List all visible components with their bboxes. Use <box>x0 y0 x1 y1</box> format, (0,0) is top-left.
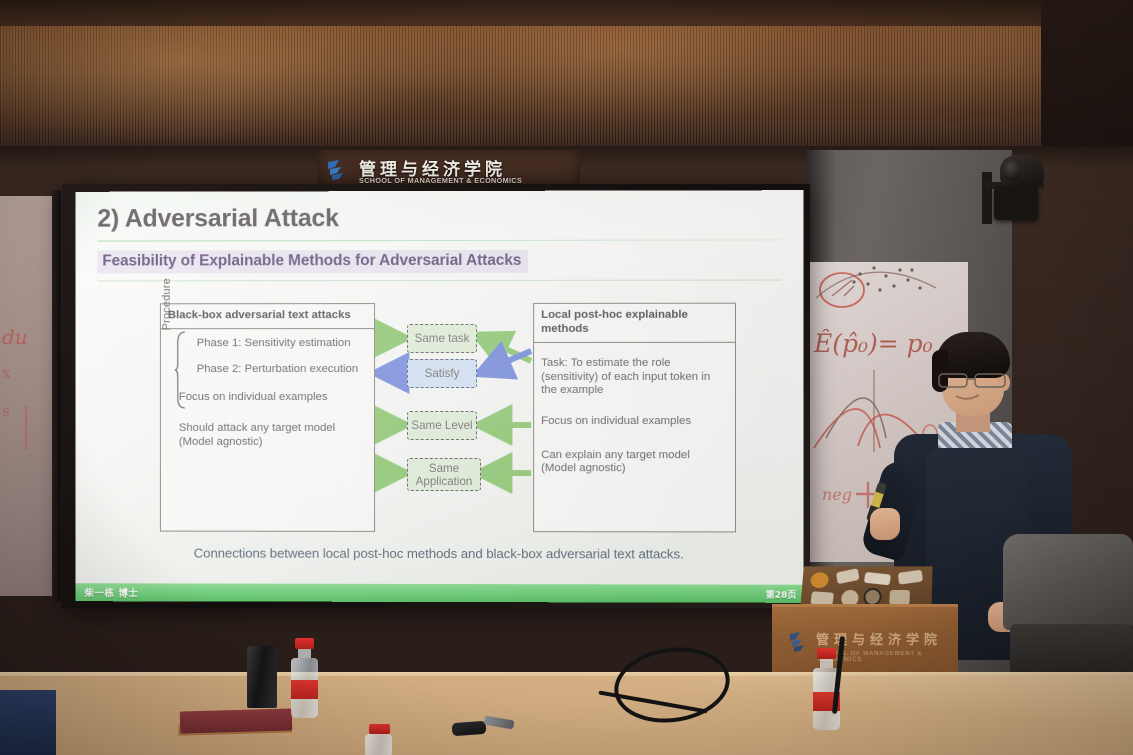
presenter-mouth <box>954 392 982 402</box>
right-panel: Local post-hoc explainable methods Task:… <box>533 303 736 533</box>
presenter-hand-holding-marker <box>870 508 900 540</box>
arrow-task-to-satisfy <box>480 351 531 373</box>
whiteboard-left <box>0 196 58 596</box>
black-thermos <box>247 646 277 708</box>
midbox-same-task[interactable]: Same task <box>407 324 477 353</box>
red-notebook <box>180 708 293 733</box>
comparison-diagram: Black-box adversarial text attacks Proce… <box>97 303 783 544</box>
left-item-phase2: Phase 2: Perturbation execution <box>197 363 368 377</box>
school-logo-icon <box>326 158 352 182</box>
sticker-label-1 <box>836 568 859 584</box>
bottle-neck <box>298 649 311 658</box>
bottle-body <box>291 658 318 718</box>
camera-lens-icon <box>1004 158 1020 180</box>
right-item-focus: Focus on individual examples <box>541 415 712 429</box>
camera-mount <box>982 172 992 224</box>
camera-base <box>994 186 1038 220</box>
ceiling-right-shadow <box>1041 0 1133 160</box>
bottle-cap <box>295 638 314 649</box>
conference-table <box>0 676 1133 755</box>
subtitle-divider <box>97 280 781 282</box>
office-chair-back <box>1003 534 1133 630</box>
water-bottle-left <box>291 638 318 718</box>
title-divider <box>97 239 781 242</box>
bottle-body <box>365 734 392 755</box>
glasses-icon <box>938 372 1010 389</box>
footer-page-number: 第28页 <box>766 587 797 600</box>
sticker-orange <box>810 572 829 588</box>
water-bottle-foreground <box>365 724 393 755</box>
left-item-focus: Focus on individual examples <box>179 391 354 405</box>
left-item-phase1: Phase 1: Sensitivity estimation <box>197 337 362 351</box>
sticker-label-2 <box>864 572 891 585</box>
sticker-label-3 <box>898 570 923 585</box>
projected-slide: 2) Adversarial Attack Feasibility of Exp… <box>76 190 804 603</box>
right-panel-heading: Local post-hoc explainable methods <box>534 304 735 343</box>
footer-presenter-name: 柴一栋 博士 <box>84 585 138 599</box>
right-item-explain: Can explain any target model (Model agno… <box>541 449 720 477</box>
bottle-label <box>291 680 318 699</box>
bottle-neck <box>820 659 833 668</box>
midbox-satisfy[interactable]: Satisfy <box>407 359 477 388</box>
projection-screen-bezel: 2) Adversarial Attack Feasibility of Exp… <box>62 184 810 608</box>
ceiling-trim <box>0 0 1133 26</box>
right-item-task: Task: To estimate the role (sensitivity)… <box>541 357 712 398</box>
podium-chinese-text: 管理与经济学院 <box>816 629 942 648</box>
podium-logo-icon <box>788 631 812 653</box>
midbox-same-application[interactable]: Same Application <box>407 458 481 491</box>
seated-person-silhouette <box>0 690 56 755</box>
procedure-label: Procedure <box>160 265 174 343</box>
bottle-cap <box>817 648 836 659</box>
slide-caption: Connections between local post-hoc metho… <box>76 545 804 561</box>
procedure-brace-icon <box>174 331 186 409</box>
sticker-label-5 <box>889 590 910 605</box>
right-panel-body: Task: To estimate the role (sensitivity)… <box>534 343 735 477</box>
slide-content: 2) Adversarial Attack Feasibility of Exp… <box>76 190 804 603</box>
key-fob <box>452 721 487 736</box>
left-panel-heading: Black-box adversarial text attacks <box>161 304 374 329</box>
left-panel: Black-box adversarial text attacks Proce… <box>160 303 375 532</box>
lecture-room-photo: du x s Ê(p̂₀)= p₀ neg <box>0 0 1133 755</box>
bottle-cap <box>369 724 390 734</box>
slide-footer-bar: 柴一栋 博士 第28页 <box>76 583 804 603</box>
slide-title: 2) Adversarial Attack <box>97 204 783 233</box>
left-item-agnostic: Should attack any target model (Model ag… <box>179 422 364 449</box>
midbox-same-level[interactable]: Same Level <box>407 411 477 440</box>
whiteboard-left-frame <box>52 190 61 602</box>
left-panel-body: Procedure Phase 1: Sensitivity estimatio… <box>161 329 374 449</box>
